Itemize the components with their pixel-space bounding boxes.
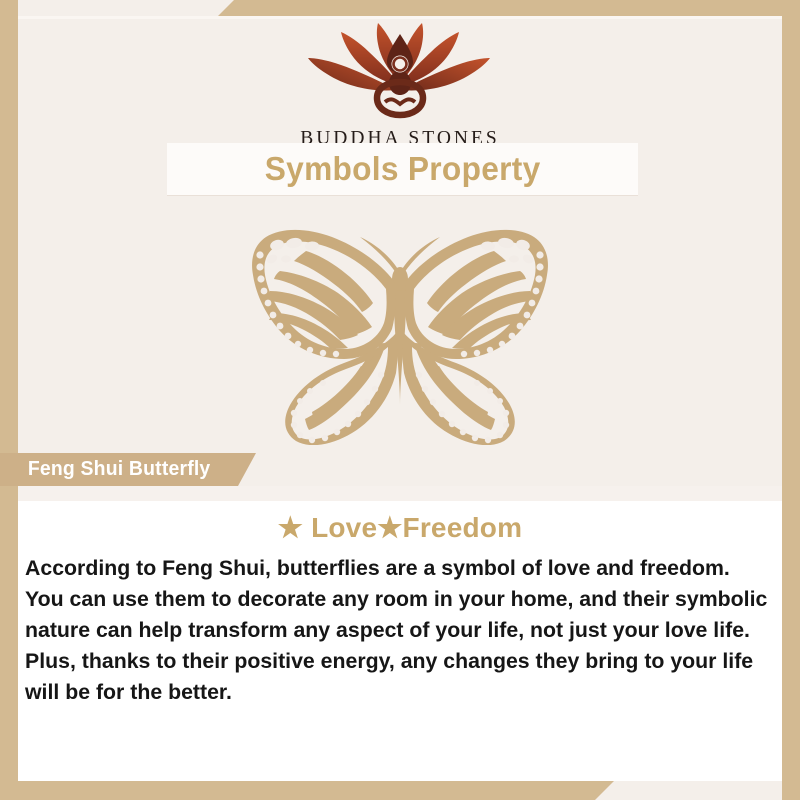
card-top-hairline [18,16,782,19]
illustration-area [18,205,782,455]
category-tab-label: Feng Shui Butterfly [28,458,211,481]
category-tab: Feng Shui Butterfly [0,453,256,486]
frame-top-band [218,0,800,16]
page-title: Symbols Property [265,150,541,188]
lotus-meditation-icon [307,20,493,124]
title-banner: Symbols Property [167,143,638,195]
description-paragraph: According to Feng Shui, butterflies are … [25,553,773,708]
meaning-headline: ★ Love★Freedom [18,511,782,544]
butterfly-icon [220,215,580,445]
brand-logo: BUDDHA STONES [0,20,800,150]
description-panel: ★ Love★Freedom According to Feng Shui, b… [18,501,782,781]
symbols-property-infographic: BUDDHA STONES Symbols Property [0,0,800,800]
panel-top-strip [18,486,782,501]
frame-bottom-band [0,781,614,800]
